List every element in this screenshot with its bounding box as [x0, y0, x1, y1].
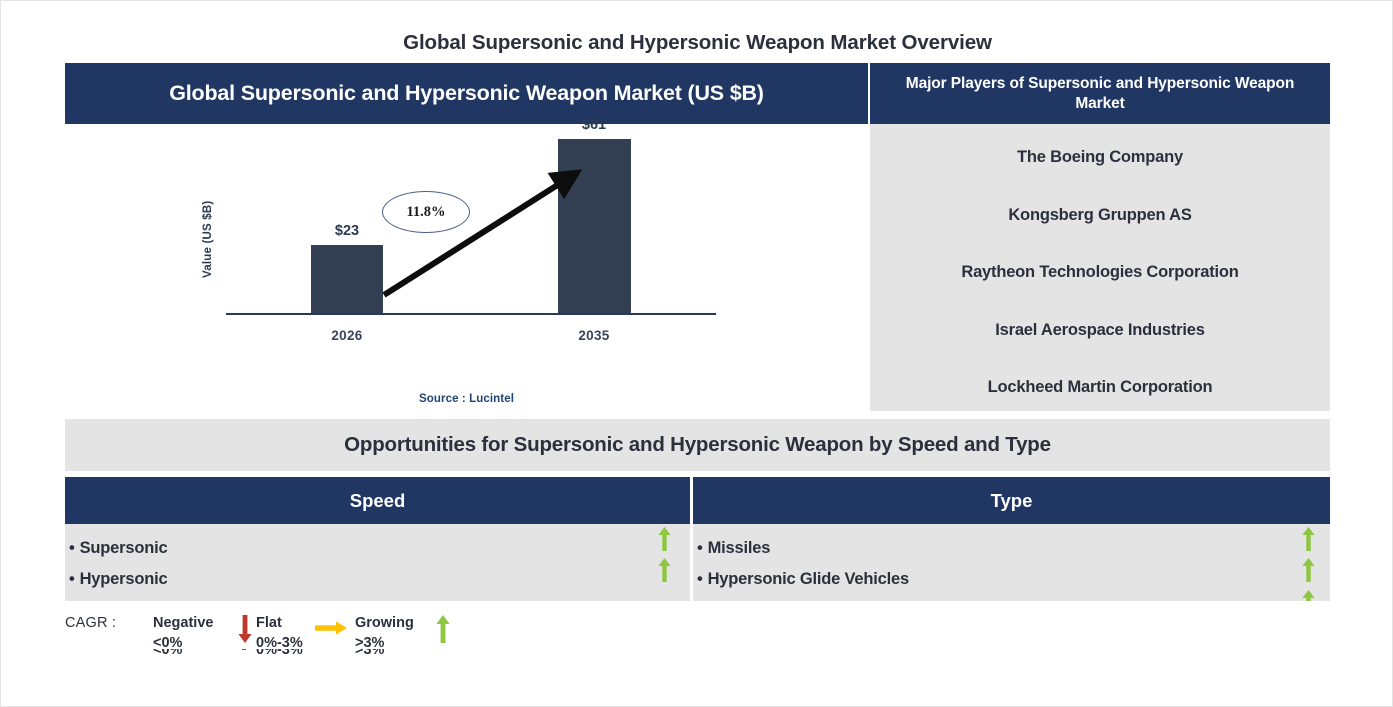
bullet-icon: •	[69, 539, 75, 557]
major-players-list: The Boeing Company Kongsberg Gruppen AS …	[870, 124, 1330, 411]
opportunities-row-label: •Hypersonic	[69, 570, 167, 589]
arrow-up-icon	[658, 558, 671, 582]
cagr-legend-item-title: Negative	[153, 613, 213, 633]
market-chart-plot-area: Value (US $B) $23 $61 2026 2035	[65, 124, 868, 411]
opportunities-row-text: Supersonic	[80, 539, 168, 557]
opportunities-rows-type: •Missiles •Hypersonic Glide Vehicles	[693, 524, 1330, 595]
opportunities-column-speed: Speed •Supersonic •Hypersonic	[65, 477, 690, 601]
opportunities-title: Opportunities for Supersonic and Hyperso…	[65, 419, 1330, 471]
cagr-legend-clipped-duplicate: <0% 0%-3% >3%	[65, 649, 565, 664]
page-title: Global Supersonic and Hypersonic Weapon …	[1, 31, 1393, 55]
cagr-legend-item-range: <0%	[153, 649, 182, 658]
arrow-up-icon	[1302, 558, 1315, 582]
arrow-up-icon	[1302, 527, 1315, 551]
bullet-icon: •	[697, 570, 703, 588]
chart-bar-label-2026: $23	[311, 223, 383, 239]
cagr-legend-item-title: Flat	[256, 613, 303, 633]
list-item: Raytheon Technologies Corporation	[880, 263, 1320, 282]
opportunities-column-header-speed: Speed	[65, 477, 690, 524]
arrow-down-icon	[238, 615, 252, 643]
cagr-legend-item-range: >3%	[355, 649, 384, 658]
list-item: •Supersonic	[65, 533, 690, 564]
chart-source-note: Source : Lucintel	[65, 393, 868, 405]
chart-bar-2026	[311, 245, 383, 313]
opportunities-row-text: Hypersonic	[80, 570, 168, 588]
cagr-legend-item-range: 0%-3%	[256, 649, 303, 658]
list-item: •Hypersonic Glide Vehicles	[693, 564, 1330, 595]
cagr-legend-item-flat: Flat 0%-3%	[256, 613, 303, 653]
chart-x-tick-2035: 2035	[549, 328, 639, 343]
opportunities-column-header-type: Type	[693, 477, 1330, 524]
list-item: Israel Aerospace Industries	[880, 321, 1320, 340]
list-item: •Hypersonic	[65, 564, 690, 595]
arrow-up-icon	[436, 615, 450, 643]
list-item: The Boeing Company	[880, 148, 1320, 167]
opportunities-row-text: Missiles	[708, 539, 771, 557]
bullet-icon: •	[697, 539, 703, 557]
list-item: Kongsberg Gruppen AS	[880, 206, 1320, 225]
market-overview-infographic: Global Supersonic and Hypersonic Weapon …	[0, 0, 1393, 707]
major-players-card-header: Major Players of Supersonic and Hyperson…	[870, 63, 1330, 124]
chart-x-tick-2026: 2026	[302, 328, 392, 343]
cagr-annotation-bubble: 11.8%	[382, 191, 470, 233]
opportunities-row-label: •Missiles	[697, 539, 770, 558]
list-item: •Missiles	[693, 533, 1330, 564]
arrow-up-icon	[658, 527, 671, 551]
bullet-icon: •	[69, 570, 75, 588]
cagr-legend-item-title: Growing	[355, 613, 414, 633]
chart-x-axis-line	[226, 313, 716, 315]
cagr-legend: CAGR : Negative <0% Flat 0%-3% Growing >…	[65, 605, 565, 683]
cagr-legend-item-growing: Growing >3%	[355, 613, 414, 653]
growth-arrow-icon	[226, 138, 716, 363]
arrow-up-icon	[1302, 590, 1315, 601]
list-item: Lockheed Martin Corporation	[880, 378, 1320, 397]
arrow-down-icon	[242, 649, 246, 650]
opportunities-row-text: Hypersonic Glide Vehicles	[708, 570, 909, 588]
cagr-legend-item-negative: Negative <0%	[153, 613, 213, 653]
market-chart-card: Global Supersonic and Hypersonic Weapon …	[65, 63, 868, 411]
major-players-card: Major Players of Supersonic and Hyperson…	[868, 63, 1330, 411]
opportunities-column-type: Type •Missiles •Hypersonic Glide Vehicle…	[693, 477, 1330, 601]
opportunities-rows-speed: •Supersonic •Hypersonic	[65, 524, 690, 595]
chart-canvas: $23 $61 2026 2035 11.8%	[226, 138, 716, 363]
opportunities-row-label: •Supersonic	[69, 539, 167, 558]
chart-bar-2035	[558, 139, 631, 313]
market-chart-card-header: Global Supersonic and Hypersonic Weapon …	[65, 63, 868, 124]
cagr-legend-label: CAGR :	[65, 615, 116, 631]
arrow-right-icon	[315, 621, 347, 635]
opportunities-row-label: •Hypersonic Glide Vehicles	[697, 570, 909, 589]
chart-bar-label-2035: $61	[558, 117, 630, 133]
chart-y-axis-label: Value (US $B)	[202, 184, 216, 294]
